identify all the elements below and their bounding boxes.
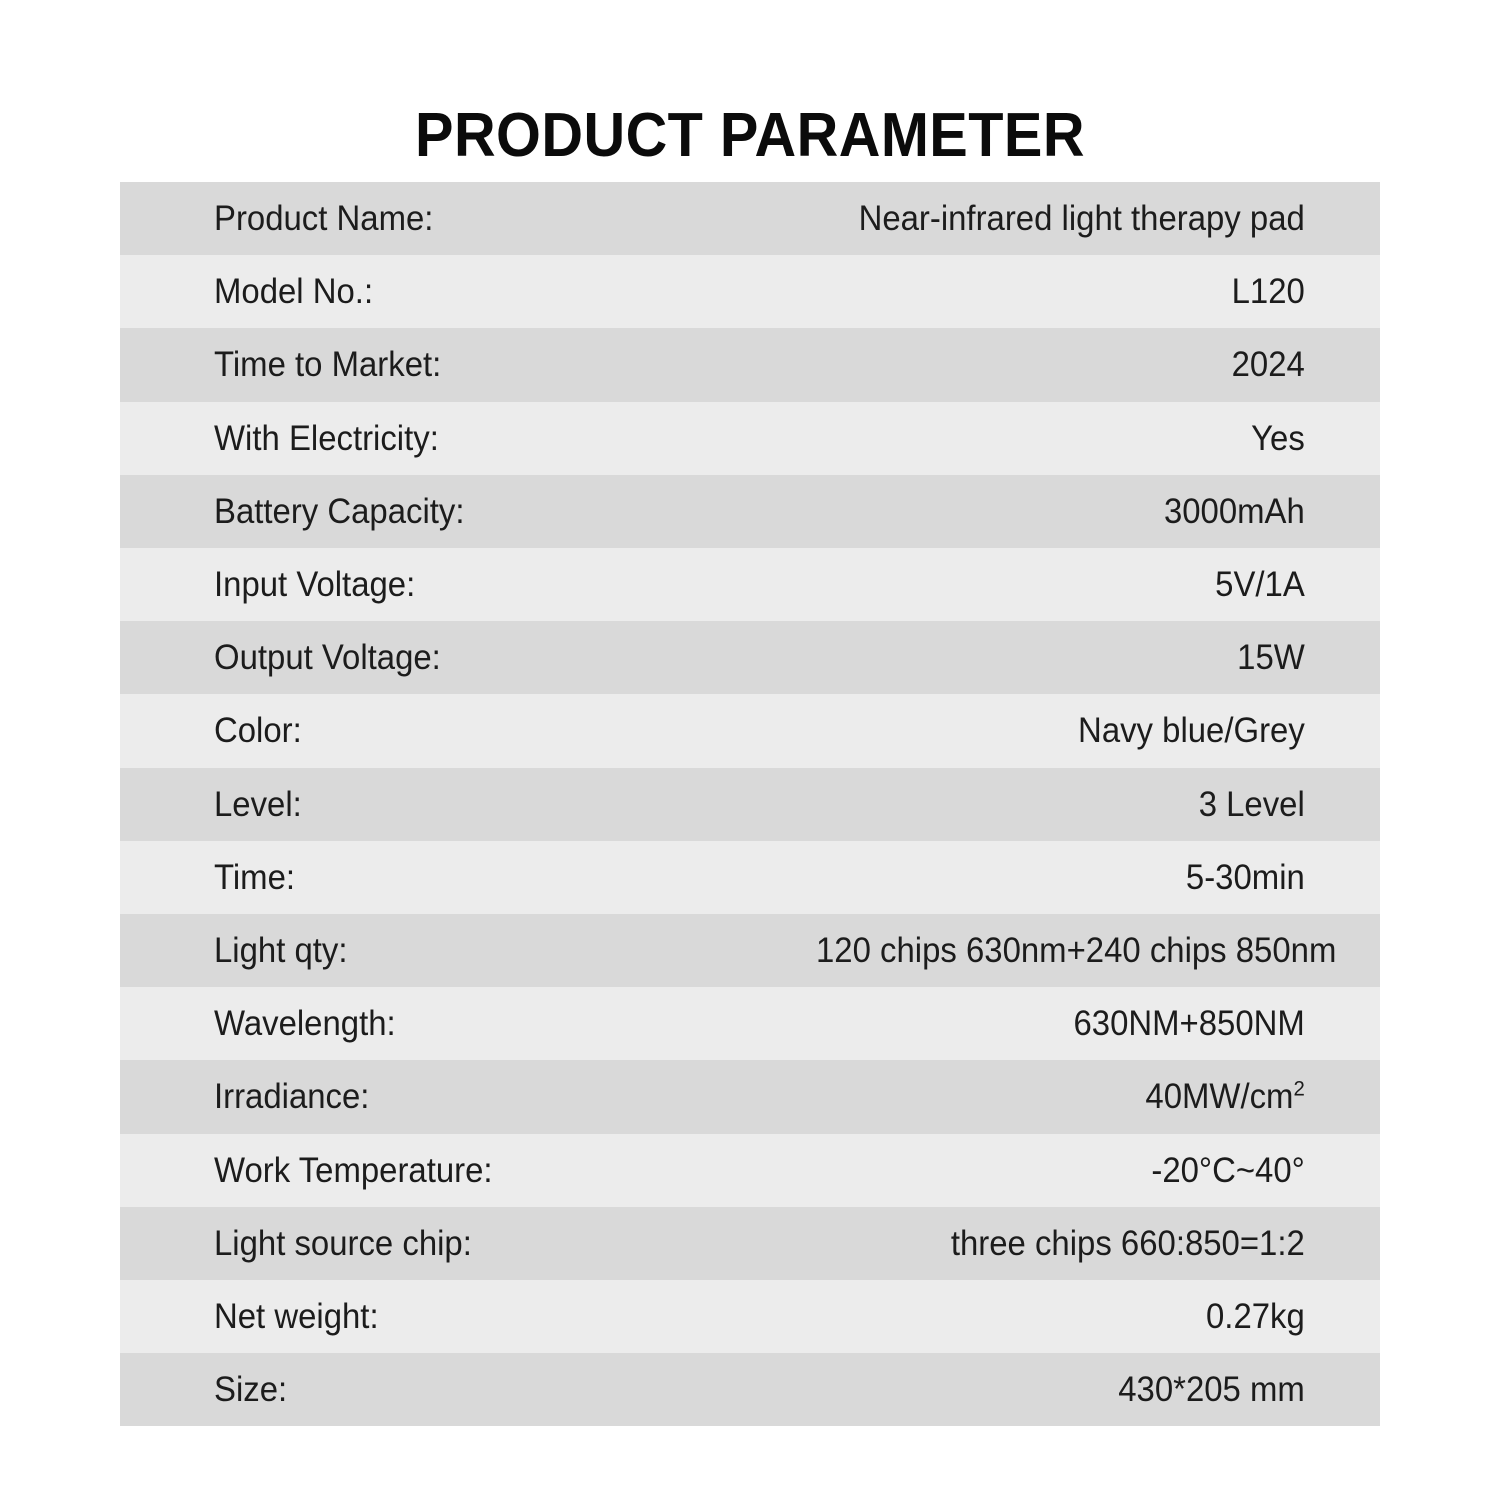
spec-label: Product Name: [120,182,740,255]
table-row: Wavelength:630NM+850NM [120,987,1380,1060]
spec-label: Level: [120,768,740,841]
spec-value: 2024 [816,328,1380,401]
spec-value: 3000mAh [816,475,1380,548]
spec-label: Net weight: [120,1280,740,1353]
spec-label: Battery Capacity: [120,475,740,548]
table-row: Work Temperature:-20°C~40° [120,1134,1380,1207]
spec-label: Light source chip: [120,1207,740,1280]
spec-label: Model No.: [120,255,740,328]
spec-value: Near-infrared light therapy pad [816,182,1380,255]
spec-label: Output Voltage: [120,621,740,694]
spec-label: Irradiance: [120,1060,740,1133]
table-row: Irradiance:40MW/cm2 [120,1060,1380,1133]
table-row: Time to Market:2024 [120,328,1380,401]
spec-value: 5V/1A [816,548,1380,621]
table-row: Model No.:L120 [120,255,1380,328]
spec-value: 15W [816,621,1380,694]
table-row: Input Voltage:5V/1A [120,548,1380,621]
spec-table: Product Name:Near-infrared light therapy… [120,182,1380,1426]
table-row: Output Voltage:15W [120,621,1380,694]
table-row: With Electricity:Yes [120,402,1380,475]
spec-value: Yes [816,402,1380,475]
spec-value: 3 Level [816,768,1380,841]
spec-value: three chips 660:850=1:2 [816,1207,1380,1280]
table-row: Level:3 Level [120,768,1380,841]
table-row: Product Name:Near-infrared light therapy… [120,182,1380,255]
spec-label: With Electricity: [120,402,740,475]
table-row: Size:430*205 mm [120,1353,1380,1426]
spec-value: 5-30min [816,841,1380,914]
spec-value: 120 chips 630nm+240 chips 850nm [816,914,1380,987]
spec-label: Light qty: [120,914,740,987]
spec-value-superscript: 2 [1293,1076,1304,1101]
table-row: Time:5-30min [120,841,1380,914]
spec-label: Input Voltage: [120,548,740,621]
table-row: Battery Capacity:3000mAh [120,475,1380,548]
spec-value: Navy blue/Grey [816,694,1380,767]
spec-label: Work Temperature: [120,1134,740,1207]
table-row: Light source chip:three chips 660:850=1:… [120,1207,1380,1280]
spec-label: Time: [120,841,740,914]
table-row: Light qty:120 chips 630nm+240 chips 850n… [120,914,1380,987]
spec-label: Wavelength: [120,987,740,1060]
spec-label: Size: [120,1353,740,1426]
spec-value-text: 40MW/cm [1145,1077,1293,1116]
spec-value: L120 [816,255,1380,328]
spec-value: -20°C~40° [816,1134,1380,1207]
spec-table-body: Product Name:Near-infrared light therapy… [120,182,1380,1426]
product-parameter-page: PRODUCT PARAMETER Product Name:Near-infr… [0,0,1500,1500]
spec-label: Time to Market: [120,328,740,401]
spec-value: 430*205 mm [816,1353,1380,1426]
table-row: Color:Navy blue/Grey [120,694,1380,767]
page-title: PRODUCT PARAMETER [53,100,1448,172]
spec-value: 630NM+850NM [816,987,1380,1060]
spec-value: 40MW/cm2 [816,1060,1380,1133]
spec-value: 0.27kg [816,1280,1380,1353]
spec-label: Color: [120,694,740,767]
table-row: Net weight:0.27kg [120,1280,1380,1353]
